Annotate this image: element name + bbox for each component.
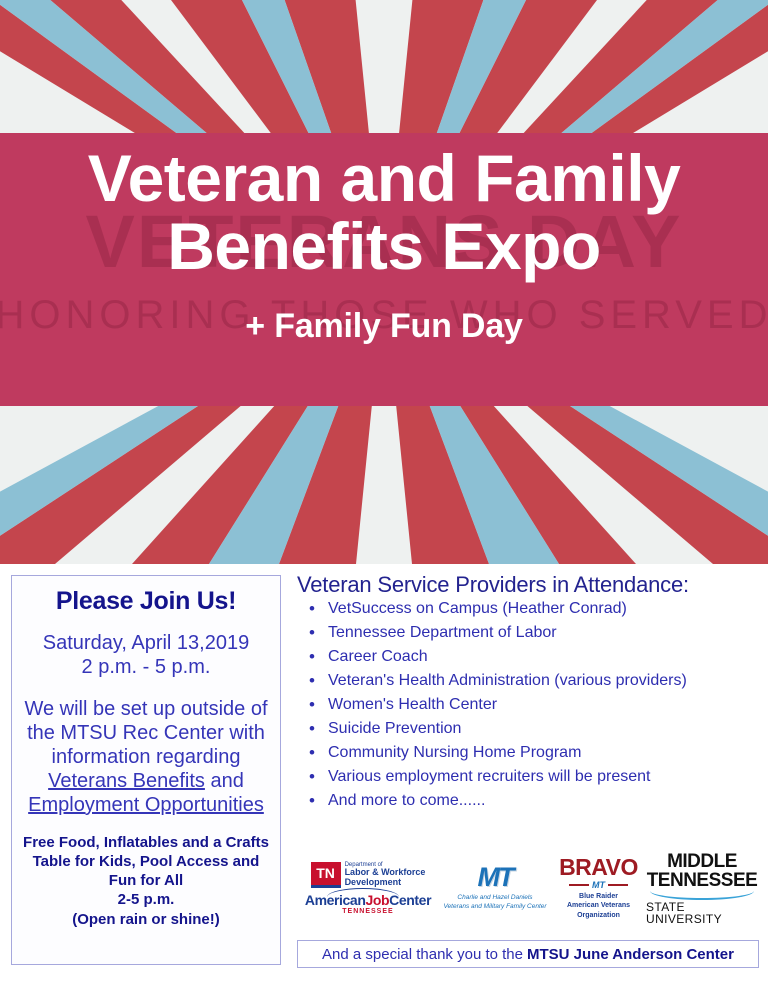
event-date: Saturday, April 13,2019 [12, 631, 280, 655]
mt-daniels-subtitle: Charlie and Hazel Daniels Veterans and M… [443, 894, 546, 912]
event-description-mid: and [205, 770, 244, 792]
thank-you-highlight: MTSU June Anderson Center [527, 946, 734, 963]
amenities-rain-note: (Open rain or shine!) [18, 910, 274, 929]
list-item: Tennessee Department of Labor [297, 625, 759, 641]
bravo-dash-right-icon [608, 884, 628, 886]
sponsor-logo-strip: TN Department of Labor & Workforce Devel… [297, 847, 759, 929]
ajc-swoosh-icon [327, 888, 399, 897]
list-item: VetSuccess on Campus (Heather Conrad) [297, 601, 759, 617]
event-datetime: Saturday, April 13,2019 2 p.m. - 5 p.m. [12, 631, 280, 680]
poster-subtitle: + Family Fun Day [0, 307, 768, 346]
list-item: Veteran's Health Administration (various… [297, 673, 759, 689]
amenities-time: 2-5 p.m. [18, 890, 274, 909]
list-item: Women's Health Center [297, 697, 759, 713]
mtsu-line-3: STATE UNIVERSITY [646, 901, 758, 925]
mt-daniels-center-logo: MT Charlie and Hazel Daniels Veterans an… [439, 864, 551, 912]
tn-badge-icon: TN [311, 862, 341, 888]
amenities-line-3: Fun for All [18, 871, 274, 890]
poster-title-block: Veteran and Family Benefits Expo + Famil… [0, 133, 768, 346]
providers-list: VetSuccess on Campus (Heather Conrad) Te… [297, 601, 759, 809]
bravo-wordmark: BRAVO [559, 856, 638, 879]
mtsu-wave-icon [650, 891, 754, 900]
tn-labor-line-3: Development [345, 878, 426, 887]
mt-daniels-line-2: Veterans and Military Family Center [443, 903, 546, 912]
bravo-logo: BRAVO MT Blue Raider American Veterans O… [551, 856, 646, 920]
american-job-center-logo: AmericanJobCenter TENNESSEE [305, 893, 431, 915]
join-us-heading: Please Join Us! [12, 587, 280, 616]
tn-labor-logo: TN Department of Labor & Workforce Devel… [311, 862, 426, 888]
tn-labor-wordmark: Department of Labor & Workforce Developm… [345, 862, 426, 887]
event-time: 2 p.m. - 5 p.m. [12, 655, 280, 679]
thank-you-prefix: And a special thank you to the [322, 946, 523, 963]
mt-daniels-line-1: Charlie and Hazel Daniels [443, 894, 546, 903]
bravo-subtitle: Blue Raider American Veterans Organizati… [567, 892, 630, 920]
mtsu-logo: MIDDLE TENNESSEE STATE UNIVERSITY [646, 852, 758, 925]
veterans-benefits-link[interactable]: Veterans Benefits [48, 770, 205, 792]
bravo-line-3: Organization [567, 911, 630, 920]
poster-title-line-2: Benefits Expo [0, 213, 768, 281]
event-description: We will be set up outside of the MTSU Re… [12, 697, 280, 817]
poster-title-line-1: Veteran and Family [0, 145, 768, 213]
mtsu-line-1: MIDDLE [667, 852, 737, 871]
list-item: Various employment recruiters will be pr… [297, 769, 759, 785]
join-us-box: Please Join Us! Saturday, April 13,2019 … [11, 575, 281, 965]
poster-body: Please Join Us! Saturday, April 13,2019 … [0, 564, 768, 994]
bravo-dash-left-icon [569, 884, 589, 886]
list-item: And more to come...... [297, 793, 759, 809]
providers-section: Veteran Service Providers in Attendance:… [297, 572, 759, 817]
amenities-line-2: Table for Kids, Pool Access and [18, 852, 274, 871]
bravo-rule: MT [569, 880, 628, 890]
title-banner: VETERANS DAY HONORING THOSE WHO SERVED V… [0, 133, 768, 406]
providers-heading: Veteran Service Providers in Attendance: [297, 572, 759, 598]
tn-labor-ajc-logo: TN Department of Labor & Workforce Devel… [297, 862, 439, 915]
employment-opportunities-link[interactable]: Employment Opportunities [28, 794, 264, 816]
list-item: Community Nursing Home Program [297, 745, 759, 761]
bravo-line-2: American Veterans [567, 901, 630, 910]
bravo-line-1: Blue Raider [567, 892, 630, 901]
thank-you-bar: And a special thank you to the MTSU June… [297, 940, 759, 968]
mtsu-line-2: TENNESSEE [647, 871, 758, 890]
mt-monogram-icon: MT [478, 864, 513, 891]
ajc-state: TENNESSEE [305, 908, 431, 915]
amenities-line-1: Free Food, Inflatables and a Crafts [18, 833, 274, 852]
event-amenities: Free Food, Inflatables and a Crafts Tabl… [12, 833, 280, 929]
list-item: Career Coach [297, 649, 759, 665]
event-description-prefix: We will be set up outside of the MTSU Re… [24, 698, 267, 768]
bravo-mt-monogram-icon: MT [592, 880, 605, 890]
list-item: Suicide Prevention [297, 721, 759, 737]
